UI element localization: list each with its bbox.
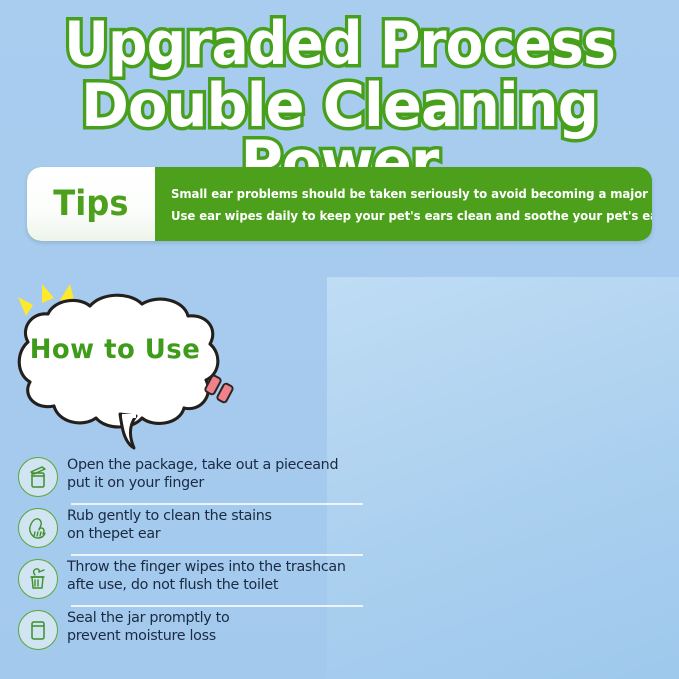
dog-left-ear (362, 303, 443, 420)
infographic-poster: Upgraded Process Double Cleaning Power T… (0, 0, 679, 679)
tips-text-panel: Small ear problems should be taken serio… (155, 167, 652, 241)
bubble-body (19, 295, 218, 427)
step-item: Rub gently to clean the stains on thepet… (18, 503, 363, 554)
wipe-texture (586, 434, 623, 461)
step-line-1: Seal the jar promptly to (67, 610, 229, 628)
finger-wipe (565, 359, 641, 483)
dog-nose (471, 473, 515, 515)
how-to-use-steps: Open the package, take out a pieceand pu… (18, 452, 363, 656)
bubble-tail (120, 414, 136, 448)
step-item: Throw the finger wipes into the trashcan… (18, 554, 363, 605)
step-line-1: Rub gently to clean the stains (67, 508, 272, 526)
closed-jar-icon (18, 610, 58, 650)
step-text: Rub gently to clean the stains on thepet… (67, 506, 272, 543)
step-line-1: Throw the finger wipes into the trashcan (67, 559, 346, 577)
dog-right-ear (541, 303, 622, 421)
dog-blaze (472, 369, 515, 559)
step-text: Throw the finger wipes into the trashcan… (67, 557, 346, 594)
thumbnail (557, 538, 573, 560)
step-line-2: afte use, do not flush the toilet (67, 577, 346, 595)
dog-left-eye (418, 435, 456, 475)
step-item: Open the package, take out a pieceand pu… (18, 452, 363, 503)
step-text: Open the package, take out a pieceand pu… (67, 455, 338, 492)
dog-chest (409, 567, 579, 679)
step-item: Seal the jar promptly to prevent moistur… (18, 605, 363, 656)
step-line-2: on thepet ear (67, 526, 272, 544)
human-hand (559, 480, 673, 679)
how-to-use-bubble: How to Use (2, 278, 252, 450)
step-line-1: Open the package, take out a pieceand (67, 457, 338, 475)
tips-label: Tips (53, 184, 128, 224)
dog-right-eye (530, 435, 568, 475)
tips-line-2: Use ear wipes daily to keep your pet's e… (171, 208, 652, 223)
corgi-with-wipe-illustration (327, 277, 679, 679)
wipe-dirt (575, 385, 635, 421)
dog-tongue (469, 525, 517, 584)
tips-banner: Tips Small ear problems should be taken … (27, 167, 652, 241)
thumb (547, 511, 571, 547)
trash-can-icon (18, 559, 58, 599)
step-line-2: prevent moisture loss (67, 628, 229, 646)
rubbing-hand-icon (18, 508, 58, 548)
tips-line-1: Small ear problems should be taken serio… (171, 186, 652, 201)
step-text: Seal the jar promptly to prevent moistur… (67, 608, 229, 645)
open-jar-icon (18, 457, 58, 497)
photo-backdrop (327, 277, 679, 679)
product-usage-photo (327, 277, 679, 679)
dog-muzzle (431, 465, 555, 561)
tips-label-panel: Tips (27, 167, 155, 241)
dog-head (369, 351, 617, 569)
step-line-2: put it on your finger (67, 475, 338, 493)
headline-line-1: Upgraded Process (27, 16, 652, 74)
